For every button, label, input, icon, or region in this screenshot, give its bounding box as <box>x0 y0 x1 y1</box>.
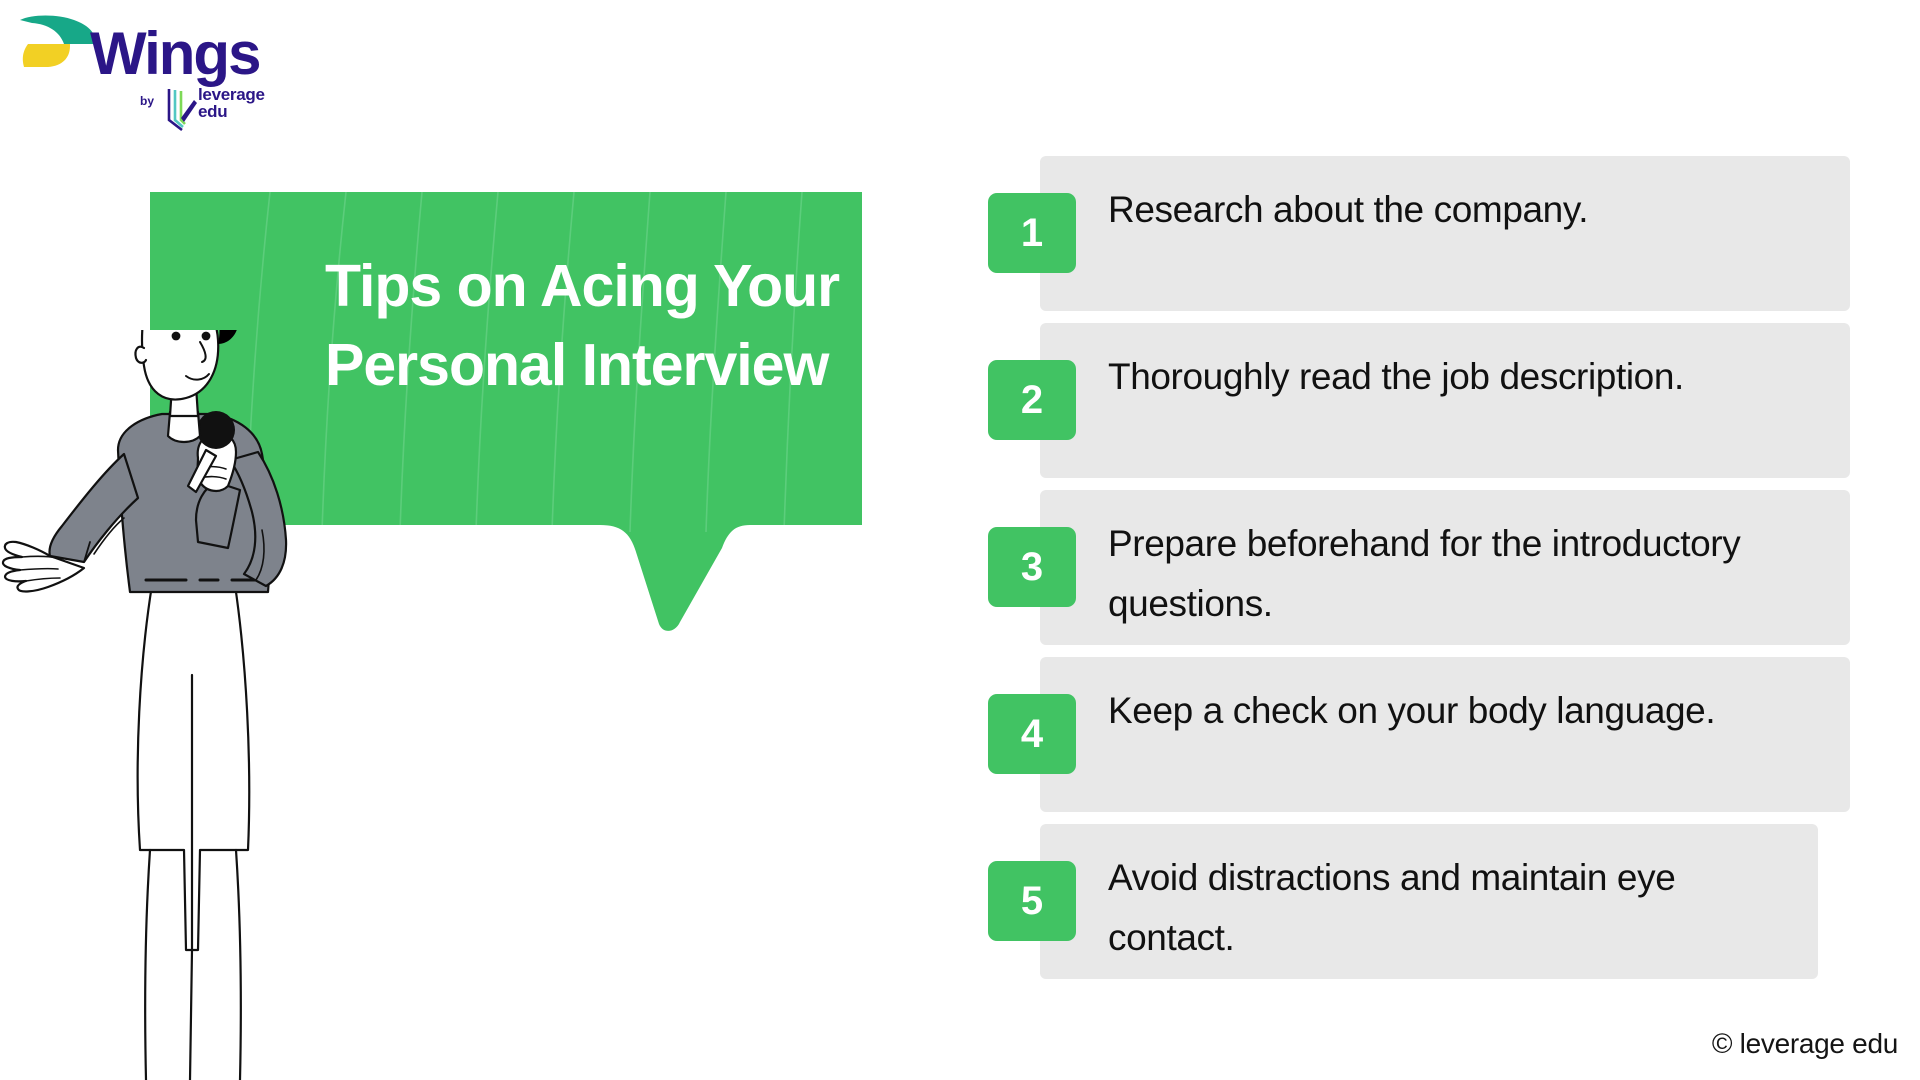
list-item[interactable]: 3 Prepare beforehand for the introductor… <box>1040 484 1850 651</box>
tip-number-badge: 1 <box>988 193 1076 273</box>
logo-sub-brand: leverage edu <box>198 86 265 120</box>
woman-with-microphone-illustration <box>0 330 330 1080</box>
tip-text: Thoroughly read the job description. <box>1108 347 1810 407</box>
tip-text: Avoid distractions and maintain eye cont… <box>1108 848 1810 968</box>
tip-number-badge: 5 <box>988 861 1076 941</box>
logo-book-pen-icon <box>166 86 200 132</box>
tip-text: Keep a check on your body language. <box>1108 681 1810 741</box>
tip-text: Prepare beforehand for the introductory … <box>1108 514 1810 634</box>
tip-text: Research about the company. <box>1108 180 1810 240</box>
list-item[interactable]: 5 Avoid distractions and maintain eye co… <box>1040 818 1850 985</box>
logo-wordmark: Wings <box>90 24 259 84</box>
logo-sub-brand-line1: leverage <box>198 86 265 103</box>
tip-number-badge: 4 <box>988 694 1076 774</box>
brand-logo: Wings by leverage edu <box>18 8 278 136</box>
tip-number-badge: 3 <box>988 527 1076 607</box>
logo-by-label: by <box>140 94 154 108</box>
list-item[interactable]: 1 Research about the company. <box>1040 150 1850 317</box>
copyright-notice: © leverage edu <box>1712 1028 1898 1060</box>
logo-sub-brand-line2: edu <box>198 103 265 120</box>
tip-number-badge: 2 <box>988 360 1076 440</box>
tips-list: 1 Research about the company. 2 Thorough… <box>1040 150 1850 985</box>
list-item[interactable]: 4 Keep a check on your body language. <box>1040 651 1850 818</box>
list-item[interactable]: 2 Thoroughly read the job description. <box>1040 317 1850 484</box>
page-title: Tips on Acing Your Personal Interview <box>325 247 855 405</box>
